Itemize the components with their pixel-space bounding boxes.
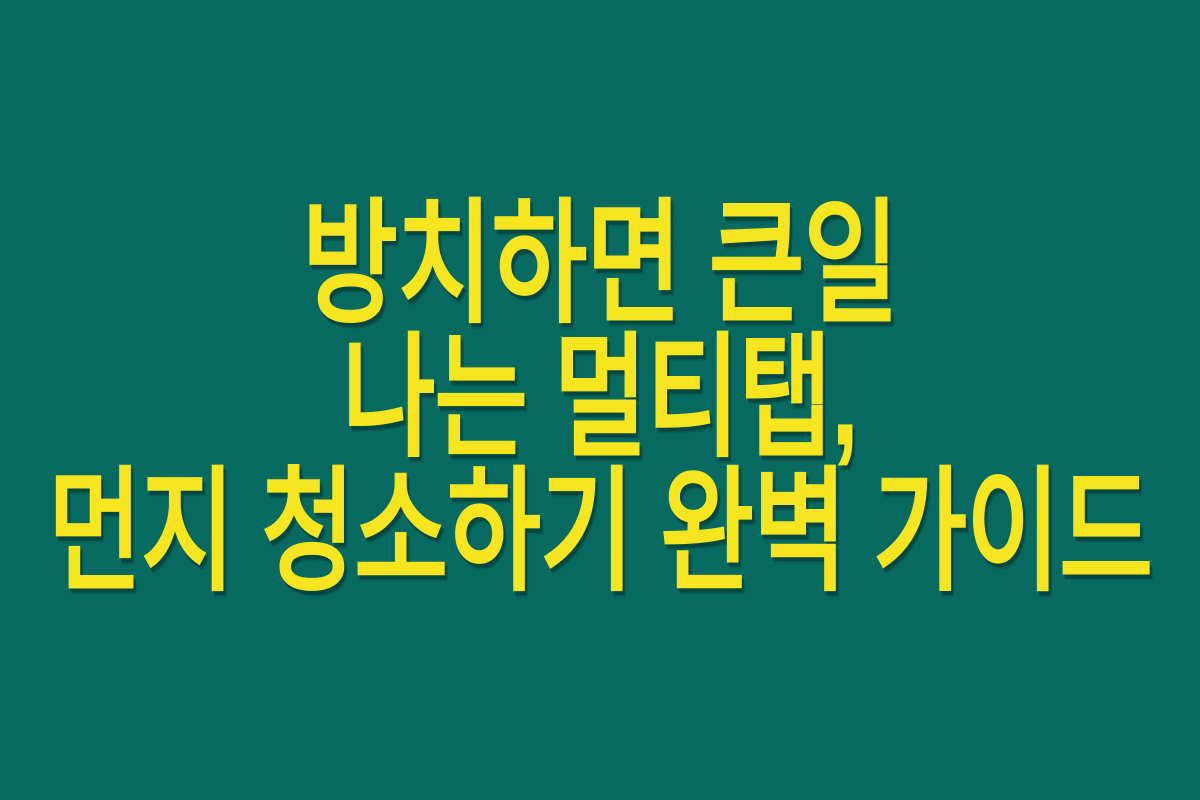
headline-line-3: 먼지 청소하기 완벽 가이드 <box>9 465 1190 600</box>
headline-block: 방치하면 큰일 나는 멀티탭, 먼지 청소하기 완벽 가이드 <box>0 213 1200 585</box>
headline-line-1: 방치하면 큰일 <box>0 197 1200 332</box>
headline-line-2: 나는 멀티탭, <box>13 331 1187 466</box>
poster-canvas: 방치하면 큰일 나는 멀티탭, 먼지 청소하기 완벽 가이드 <box>0 0 1200 800</box>
